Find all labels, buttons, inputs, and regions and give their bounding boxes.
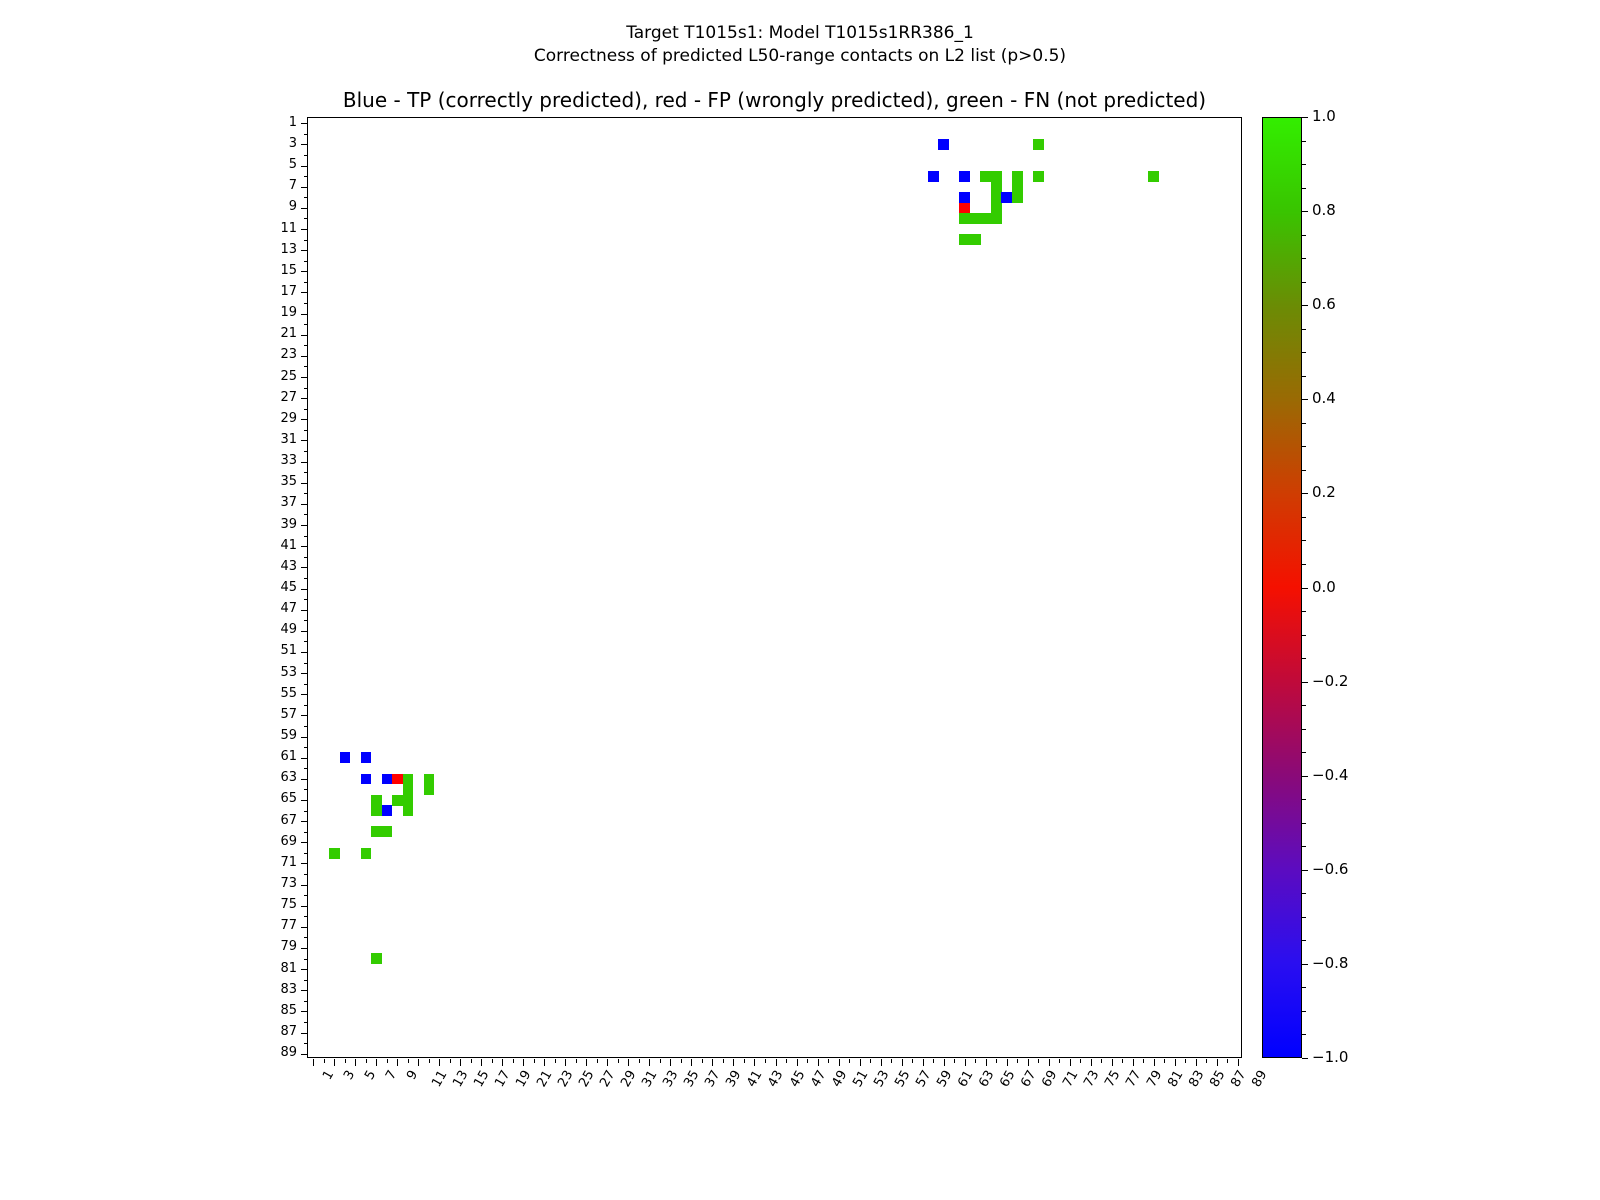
x-tick-label: 17 bbox=[493, 1068, 514, 1090]
x-tick bbox=[797, 1059, 798, 1066]
colorbar-tick bbox=[1302, 987, 1306, 988]
heatmap-cell-fn bbox=[970, 213, 981, 224]
x-tick bbox=[1101, 1059, 1102, 1063]
y-tick-label: 47 bbox=[237, 602, 297, 615]
x-tick bbox=[1164, 1059, 1165, 1063]
heatmap-cell-tp bbox=[1001, 192, 1012, 203]
y-tick bbox=[304, 768, 308, 769]
y-tick bbox=[301, 1033, 308, 1034]
y-tick bbox=[304, 218, 308, 219]
x-tick bbox=[1122, 1059, 1123, 1063]
y-tick bbox=[304, 853, 308, 854]
x-tick bbox=[366, 1059, 367, 1063]
colorbar-tick bbox=[1302, 917, 1306, 918]
x-tick bbox=[754, 1059, 755, 1066]
heatmap-cell-fn bbox=[1012, 192, 1023, 203]
y-tick bbox=[304, 240, 308, 241]
heatmap-cell-fn bbox=[392, 795, 403, 806]
y-tick bbox=[304, 134, 308, 135]
colorbar-tick bbox=[1302, 188, 1306, 189]
x-tick bbox=[1038, 1059, 1039, 1063]
colorbar-tick bbox=[1302, 540, 1306, 541]
x-tick-label: 3 bbox=[341, 1068, 358, 1083]
heatmap-cell-fn bbox=[424, 784, 435, 795]
heatmap-cell-fn bbox=[371, 805, 382, 816]
y-tick-label: 51 bbox=[237, 644, 297, 657]
heatmap-cell-fn bbox=[980, 213, 991, 224]
heatmap-cell-fn bbox=[403, 805, 414, 816]
x-tick-label: 37 bbox=[703, 1068, 724, 1090]
colorbar-tick-label: −0.6 bbox=[1312, 862, 1348, 877]
heatmap-cell-fp bbox=[392, 774, 403, 785]
x-tick-label: 41 bbox=[745, 1068, 766, 1090]
y-tick bbox=[304, 261, 308, 262]
y-tick bbox=[301, 208, 308, 209]
colorbar-tick bbox=[1302, 752, 1306, 753]
x-tick bbox=[786, 1059, 787, 1063]
x-tick bbox=[1112, 1059, 1113, 1066]
colorbar-tick bbox=[1302, 893, 1306, 894]
x-tick-label: 25 bbox=[577, 1068, 598, 1090]
colorbar-tick bbox=[1302, 258, 1306, 259]
x-tick bbox=[1028, 1059, 1029, 1066]
x-tick bbox=[954, 1059, 955, 1063]
y-tick-label: 31 bbox=[237, 433, 297, 446]
y-tick-label: 49 bbox=[237, 623, 297, 636]
x-tick bbox=[691, 1059, 692, 1066]
y-tick bbox=[301, 440, 308, 441]
x-tick bbox=[849, 1059, 850, 1063]
y-tick bbox=[304, 811, 308, 812]
axes-title: Blue - TP (correctly predicted), red - F… bbox=[307, 88, 1242, 112]
suptitle-line-2: Correctness of predicted L50-range conta… bbox=[0, 45, 1600, 68]
y-tick-label: 89 bbox=[237, 1046, 297, 1059]
y-tick bbox=[304, 388, 308, 389]
y-tick bbox=[304, 176, 308, 177]
x-tick bbox=[702, 1059, 703, 1063]
colorbar-tick bbox=[1302, 1034, 1306, 1035]
y-tick-label: 55 bbox=[237, 687, 297, 700]
x-tick bbox=[860, 1059, 861, 1066]
x-tick-label: 19 bbox=[514, 1068, 535, 1090]
colorbar-tick bbox=[1302, 658, 1306, 659]
x-tick bbox=[870, 1059, 871, 1063]
x-tick-label: 61 bbox=[955, 1068, 976, 1090]
y-tick bbox=[301, 758, 308, 759]
colorbar-gradient bbox=[1262, 117, 1302, 1058]
y-tick bbox=[301, 885, 308, 886]
colorbar-tick-label: 0.6 bbox=[1312, 297, 1336, 312]
x-tick bbox=[1059, 1059, 1060, 1063]
y-tick-label: 87 bbox=[237, 1025, 297, 1038]
x-tick bbox=[839, 1059, 840, 1066]
x-tick-label: 65 bbox=[997, 1068, 1018, 1090]
y-tick-label: 17 bbox=[237, 285, 297, 298]
x-tick bbox=[881, 1059, 882, 1066]
y-tick bbox=[304, 705, 308, 706]
y-tick bbox=[301, 969, 308, 970]
x-tick-label: 43 bbox=[766, 1068, 787, 1090]
y-tick bbox=[301, 694, 308, 695]
colorbar[interactable]: 1.00.80.60.40.20.0−0.2−0.4−0.6−0.8−1.0 bbox=[1262, 117, 1302, 1058]
y-tick bbox=[304, 916, 308, 917]
y-tick bbox=[301, 589, 308, 590]
x-tick-label: 33 bbox=[661, 1068, 682, 1090]
x-tick-label: 21 bbox=[535, 1068, 556, 1090]
y-tick bbox=[304, 366, 308, 367]
y-tick bbox=[304, 1022, 308, 1023]
x-tick bbox=[1080, 1059, 1081, 1063]
heatmap-cell-fn bbox=[403, 784, 414, 795]
x-tick bbox=[334, 1059, 335, 1066]
y-tick bbox=[301, 229, 308, 230]
x-tick bbox=[618, 1059, 619, 1063]
y-tick-label: 69 bbox=[237, 835, 297, 848]
x-tick bbox=[828, 1059, 829, 1063]
x-tick bbox=[1017, 1059, 1018, 1063]
x-tick bbox=[986, 1059, 987, 1066]
y-tick-label: 1 bbox=[237, 116, 297, 129]
x-tick-label: 7 bbox=[383, 1068, 400, 1083]
y-tick-label: 77 bbox=[237, 919, 297, 932]
colorbar-tick-label: 1.0 bbox=[1312, 109, 1336, 124]
colorbar-tick bbox=[1302, 776, 1308, 777]
y-tick-label: 59 bbox=[237, 729, 297, 742]
x-tick bbox=[1238, 1059, 1239, 1066]
x-tick bbox=[481, 1059, 482, 1066]
y-tick bbox=[301, 292, 308, 293]
y-tick bbox=[301, 356, 308, 357]
colorbar-tick-label: −0.8 bbox=[1312, 956, 1348, 971]
x-tick-label: 35 bbox=[682, 1068, 703, 1090]
x-tick bbox=[776, 1059, 777, 1066]
y-tick bbox=[301, 504, 308, 505]
y-tick bbox=[304, 663, 308, 664]
x-tick bbox=[460, 1059, 461, 1066]
x-tick bbox=[502, 1059, 503, 1066]
x-tick bbox=[555, 1059, 556, 1063]
y-tick-label: 19 bbox=[237, 306, 297, 319]
colorbar-tick-label: −1.0 bbox=[1312, 1050, 1348, 1065]
heatmap-cell-fn bbox=[371, 826, 382, 837]
x-tick bbox=[965, 1059, 966, 1066]
y-tick-label: 67 bbox=[237, 814, 297, 827]
y-tick bbox=[301, 335, 308, 336]
x-tick-label: 73 bbox=[1081, 1068, 1102, 1090]
heatmap-cell-fn bbox=[959, 234, 970, 245]
colorbar-tick bbox=[1302, 423, 1306, 424]
y-tick-label: 25 bbox=[237, 370, 297, 383]
y-tick bbox=[301, 779, 308, 780]
y-tick bbox=[304, 684, 308, 685]
x-tick bbox=[534, 1059, 535, 1063]
y-tick bbox=[304, 430, 308, 431]
y-tick bbox=[304, 747, 308, 748]
y-tick bbox=[301, 610, 308, 611]
heatmap-cell-tp bbox=[340, 752, 351, 763]
heatmap-cell-tp bbox=[938, 139, 949, 150]
x-tick bbox=[565, 1059, 566, 1066]
colorbar-tick bbox=[1302, 729, 1306, 730]
y-tick bbox=[304, 557, 308, 558]
x-tick bbox=[628, 1059, 629, 1066]
y-tick bbox=[304, 345, 308, 346]
colorbar-tick bbox=[1302, 940, 1306, 941]
y-tick-label: 11 bbox=[237, 222, 297, 235]
heatmap-cell-fn bbox=[991, 192, 1002, 203]
y-tick bbox=[301, 842, 308, 843]
x-tick-label: 45 bbox=[787, 1068, 808, 1090]
x-tick bbox=[944, 1059, 945, 1066]
colorbar-tick-label: −0.4 bbox=[1312, 768, 1348, 783]
colorbar-tick bbox=[1302, 799, 1306, 800]
y-tick bbox=[301, 990, 308, 991]
x-tick-label: 77 bbox=[1123, 1068, 1144, 1090]
y-tick bbox=[304, 451, 308, 452]
x-tick bbox=[765, 1059, 766, 1063]
x-tick bbox=[1206, 1059, 1207, 1063]
heatmap-cell-tp bbox=[382, 774, 393, 785]
x-tick bbox=[607, 1059, 608, 1066]
heatmap-cell-fn bbox=[959, 213, 970, 224]
heatmap-cell-tp bbox=[928, 171, 939, 182]
heatmap-cell-fp bbox=[959, 203, 970, 214]
colorbar-tick bbox=[1302, 470, 1306, 471]
heatmap-cell-fn bbox=[403, 774, 414, 785]
heatmap-cell-tp bbox=[361, 752, 372, 763]
y-tick-label: 63 bbox=[237, 771, 297, 784]
y-tick-label: 5 bbox=[237, 158, 297, 171]
y-tick bbox=[301, 863, 308, 864]
x-tick bbox=[712, 1059, 713, 1066]
y-tick bbox=[304, 789, 308, 790]
colorbar-tick bbox=[1302, 635, 1306, 636]
y-tick bbox=[304, 282, 308, 283]
y-tick bbox=[304, 197, 308, 198]
colorbar-tick-label: −0.2 bbox=[1312, 674, 1348, 689]
colorbar-tick bbox=[1302, 682, 1308, 683]
x-tick bbox=[639, 1059, 640, 1063]
x-tick bbox=[376, 1059, 377, 1066]
suptitle-line-1: Target T1015s1: Model T1015s1RR386_1 bbox=[0, 22, 1600, 45]
x-tick-label: 31 bbox=[640, 1068, 661, 1090]
x-tick bbox=[996, 1059, 997, 1063]
y-tick bbox=[301, 123, 308, 124]
x-tick bbox=[975, 1059, 976, 1063]
x-tick-label: 57 bbox=[913, 1068, 934, 1090]
x-tick-label: 71 bbox=[1060, 1068, 1081, 1090]
y-tick bbox=[304, 980, 308, 981]
y-tick-label: 13 bbox=[237, 243, 297, 256]
colorbar-tick bbox=[1302, 517, 1306, 518]
y-tick bbox=[301, 567, 308, 568]
x-tick-label: 87 bbox=[1228, 1068, 1249, 1090]
y-tick bbox=[301, 927, 308, 928]
colorbar-tick bbox=[1302, 870, 1308, 871]
y-tick bbox=[301, 377, 308, 378]
x-tick bbox=[923, 1059, 924, 1066]
y-tick bbox=[301, 250, 308, 251]
y-tick bbox=[301, 715, 308, 716]
y-tick-label: 81 bbox=[237, 962, 297, 975]
colorbar-tick bbox=[1302, 376, 1306, 377]
x-tick bbox=[818, 1059, 819, 1066]
contact-map-plot[interactable] bbox=[307, 117, 1242, 1058]
colorbar-tick-label: 0.2 bbox=[1312, 485, 1336, 500]
colorbar-tick bbox=[1302, 611, 1306, 612]
heatmap-cell-fn bbox=[382, 826, 393, 837]
y-tick-label: 21 bbox=[237, 327, 297, 340]
heatmap-cell-fn bbox=[970, 234, 981, 245]
y-tick-label: 43 bbox=[237, 560, 297, 573]
colorbar-tick bbox=[1302, 564, 1306, 565]
x-tick-label: 83 bbox=[1186, 1068, 1207, 1090]
heatmap-cell-fn bbox=[1148, 171, 1159, 182]
heatmap-cells bbox=[308, 118, 1241, 1057]
y-tick bbox=[304, 578, 308, 579]
x-tick-label: 75 bbox=[1102, 1068, 1123, 1090]
y-tick-label: 29 bbox=[237, 412, 297, 425]
x-tick bbox=[670, 1059, 671, 1066]
y-tick-label: 73 bbox=[237, 877, 297, 890]
y-tick bbox=[301, 166, 308, 167]
y-tick bbox=[301, 631, 308, 632]
colorbar-tick bbox=[1302, 1011, 1306, 1012]
x-tick-label: 15 bbox=[472, 1068, 493, 1090]
y-tick-label: 83 bbox=[237, 983, 297, 996]
y-tick-label: 27 bbox=[237, 391, 297, 404]
x-tick bbox=[649, 1059, 650, 1066]
x-tick-label: 81 bbox=[1165, 1068, 1186, 1090]
y-tick-label: 71 bbox=[237, 856, 297, 869]
x-tick bbox=[313, 1059, 314, 1066]
heatmap-cell-fn bbox=[424, 774, 435, 785]
y-tick bbox=[304, 514, 308, 515]
x-tick bbox=[1091, 1059, 1092, 1066]
y-tick bbox=[301, 737, 308, 738]
x-tick-label: 69 bbox=[1039, 1068, 1060, 1090]
colorbar-tick bbox=[1302, 823, 1306, 824]
y-tick bbox=[304, 493, 308, 494]
x-tick bbox=[807, 1059, 808, 1063]
colorbar-tick bbox=[1302, 446, 1306, 447]
y-tick bbox=[301, 187, 308, 188]
x-tick bbox=[1070, 1059, 1071, 1066]
y-tick bbox=[301, 1054, 308, 1055]
colorbar-tick bbox=[1302, 282, 1306, 283]
colorbar-tick bbox=[1302, 235, 1306, 236]
x-tick bbox=[1185, 1059, 1186, 1063]
x-tick bbox=[597, 1059, 598, 1063]
y-tick bbox=[301, 462, 308, 463]
x-tick-label: 9 bbox=[404, 1068, 421, 1083]
x-tick-label: 29 bbox=[619, 1068, 640, 1090]
x-tick bbox=[324, 1059, 325, 1063]
y-tick bbox=[301, 271, 308, 272]
y-tick-label: 33 bbox=[237, 454, 297, 467]
heatmap-cell-fn bbox=[991, 171, 1002, 182]
x-tick bbox=[1217, 1059, 1218, 1066]
colorbar-tick bbox=[1302, 164, 1306, 165]
colorbar-tick bbox=[1302, 117, 1308, 118]
x-tick-label: 11 bbox=[430, 1068, 451, 1090]
x-tick-label: 27 bbox=[598, 1068, 619, 1090]
y-tick-label: 9 bbox=[237, 200, 297, 213]
y-tick bbox=[304, 959, 308, 960]
y-tick bbox=[301, 525, 308, 526]
x-tick bbox=[681, 1059, 682, 1063]
x-tick-label: 49 bbox=[829, 1068, 850, 1090]
y-tick-label: 53 bbox=[237, 666, 297, 679]
y-tick bbox=[301, 1011, 308, 1012]
heatmap-cell-fn bbox=[329, 848, 340, 859]
y-tick bbox=[301, 483, 308, 484]
x-tick-label: 67 bbox=[1018, 1068, 1039, 1090]
colorbar-tick bbox=[1302, 399, 1308, 400]
y-tick bbox=[301, 800, 308, 801]
colorbar-tick bbox=[1302, 141, 1306, 142]
x-tick-label: 89 bbox=[1249, 1068, 1270, 1090]
x-tick bbox=[744, 1059, 745, 1063]
x-tick-label: 63 bbox=[976, 1068, 997, 1090]
x-tick-label: 51 bbox=[850, 1068, 871, 1090]
y-tick bbox=[304, 726, 308, 727]
colorbar-tick bbox=[1302, 588, 1308, 589]
x-tick bbox=[397, 1059, 398, 1066]
y-tick-label: 23 bbox=[237, 348, 297, 361]
y-tick bbox=[301, 821, 308, 822]
figure-suptitle: Target T1015s1: Model T1015s1RR386_1 Cor… bbox=[0, 22, 1600, 68]
heatmap-cell-fn bbox=[1033, 171, 1044, 182]
y-tick bbox=[301, 419, 308, 420]
y-tick bbox=[304, 874, 308, 875]
x-tick bbox=[586, 1059, 587, 1066]
x-tick bbox=[345, 1059, 346, 1063]
colorbar-tick-label: 0.0 bbox=[1312, 580, 1336, 595]
x-tick bbox=[544, 1059, 545, 1066]
heatmap-cell-tp bbox=[959, 192, 970, 203]
heatmap-cell-fn bbox=[1012, 181, 1023, 192]
heatmap-cell-fn bbox=[991, 213, 1002, 224]
heatmap-cell-fn bbox=[1033, 139, 1044, 150]
x-tick bbox=[660, 1059, 661, 1063]
x-tick-label: 5 bbox=[362, 1068, 379, 1083]
y-tick bbox=[301, 673, 308, 674]
y-tick-label: 41 bbox=[237, 539, 297, 552]
x-tick bbox=[429, 1059, 430, 1063]
y-tick-label: 39 bbox=[237, 518, 297, 531]
y-tick-label: 3 bbox=[237, 137, 297, 150]
x-tick bbox=[891, 1059, 892, 1063]
x-tick bbox=[355, 1059, 356, 1066]
colorbar-tick bbox=[1302, 305, 1308, 306]
x-tick-label: 1 bbox=[320, 1068, 337, 1083]
x-tick bbox=[902, 1059, 903, 1066]
x-tick bbox=[576, 1059, 577, 1063]
x-tick-label: 47 bbox=[808, 1068, 829, 1090]
x-tick bbox=[450, 1059, 451, 1063]
y-tick bbox=[304, 937, 308, 938]
y-tick bbox=[304, 303, 308, 304]
x-tick bbox=[1049, 1059, 1050, 1066]
heatmap-cell-fn bbox=[371, 795, 382, 806]
colorbar-tick-label: 0.8 bbox=[1312, 203, 1336, 218]
y-tick-label: 57 bbox=[237, 708, 297, 721]
y-tick bbox=[301, 398, 308, 399]
colorbar-tick bbox=[1302, 1058, 1308, 1059]
x-tick bbox=[723, 1059, 724, 1063]
y-tick bbox=[304, 1043, 308, 1044]
